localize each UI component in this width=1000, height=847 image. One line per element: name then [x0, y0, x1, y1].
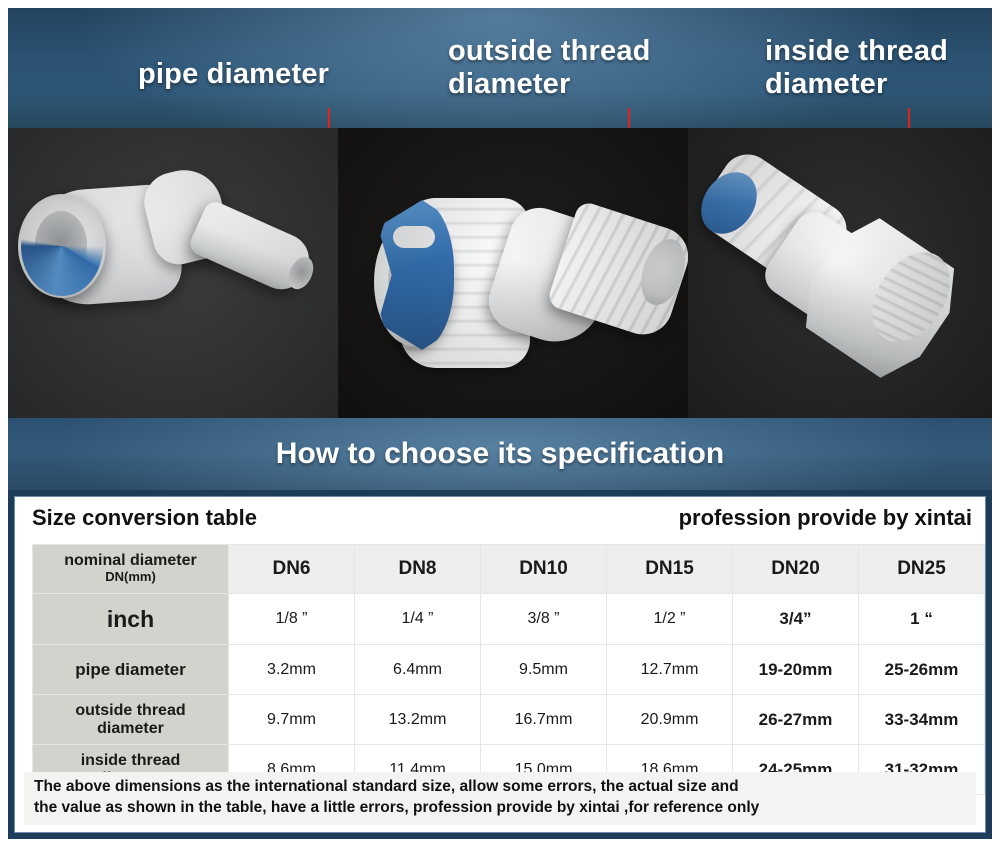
cell-pipe-dn25: 25-26mm — [859, 645, 985, 695]
cell-pipe-dn15: 12.7mm — [607, 645, 733, 695]
row-header-inch: inch — [33, 594, 229, 645]
product-photo-elbow-barb — [8, 128, 338, 418]
row-header-pipe-diameter: pipe diameter — [33, 645, 229, 695]
cell-outside-dn6: 9.7mm — [229, 695, 355, 745]
row-header-pipe-label: pipe diameter — [75, 660, 186, 679]
cell-pipe-dn6: 3.2mm — [229, 645, 355, 695]
top-label-banner: pipe diameter outside thread diameter in… — [8, 8, 992, 128]
column-header-dn10: DN10 — [481, 545, 607, 594]
product-photo-straight-female-nut — [688, 128, 992, 418]
column-header-dn20: DN20 — [733, 545, 859, 594]
fitting-blue-clip-hole — [393, 226, 435, 248]
cell-outside-dn10: 16.7mm — [481, 695, 607, 745]
size-conversion-table: nominal diameter DN(mm) DN6 DN8 DN10 DN1… — [32, 544, 985, 795]
cell-inch-dn20: 3/4” — [733, 594, 859, 645]
cell-pipe-dn20: 19-20mm — [733, 645, 859, 695]
product-spec-infographic: pipe diameter outside thread diameter in… — [0, 0, 1000, 847]
cell-inch-dn25: 1 “ — [859, 594, 985, 645]
cell-inch-dn6: 1/8 ” — [229, 594, 355, 645]
table-row-pipe-diameter: pipe diameter 3.2mm 6.4mm 9.5mm 12.7mm 1… — [33, 645, 985, 695]
cell-outside-dn25: 33-34mm — [859, 695, 985, 745]
row-header-nominal-main: nominal diameter — [34, 553, 227, 570]
product-photo-strip — [8, 128, 992, 418]
column-header-dn25: DN25 — [859, 545, 985, 594]
cell-outside-dn20: 26-27mm — [733, 695, 859, 745]
cell-pipe-dn10: 9.5mm — [481, 645, 607, 695]
banner-label-outside-thread-diameter: outside thread diameter — [448, 35, 718, 102]
cell-inch-dn8: 1/4 ” — [355, 594, 481, 645]
table-title: Size conversion table — [32, 505, 257, 531]
banner-label-pipe-diameter: pipe diameter — [138, 58, 438, 91]
table-footnote: The above dimensions as the internationa… — [24, 772, 976, 825]
column-header-dn8: DN8 — [355, 545, 481, 594]
row-header-inch-label: inch — [107, 606, 154, 632]
row-header-inside-line1: inside thread — [34, 752, 227, 769]
cell-pipe-dn8: 6.4mm — [355, 645, 481, 695]
section-headline-bar: How to choose its specification — [8, 418, 992, 490]
fitting-blue-collet — [21, 196, 103, 296]
row-header-outside-line2: diameter — [34, 720, 227, 737]
row-header-nominal-sub: DN(mm) — [34, 570, 227, 585]
cell-inch-dn15: 1/2 ” — [607, 594, 733, 645]
column-header-dn15: DN15 — [607, 545, 733, 594]
table-caption-row: Size conversion table profession provide… — [24, 496, 976, 544]
row-header-outside-line1: outside thread — [34, 702, 227, 719]
brand-note: profession provide by xintai — [679, 505, 972, 531]
footnote-line-2: the value as shown in the table, have a … — [34, 798, 966, 819]
product-photo-elbow-male-thread — [338, 128, 688, 418]
table-row-outside-thread: outside thread diameter 9.7mm 13.2mm 16.… — [33, 695, 985, 745]
headline-title: How to choose its specification — [276, 437, 724, 471]
row-header-nominal-diameter: nominal diameter DN(mm) — [33, 545, 229, 594]
banner-label-inside-thread-diameter: inside thread diameter — [765, 35, 992, 102]
table-header-row: nominal diameter DN(mm) DN6 DN8 DN10 DN1… — [33, 545, 985, 594]
footnote-line-1: The above dimensions as the internationa… — [34, 777, 966, 798]
cell-outside-dn8: 13.2mm — [355, 695, 481, 745]
row-header-outside-thread: outside thread diameter — [33, 695, 229, 745]
cell-inch-dn10: 3/8 ” — [481, 594, 607, 645]
cell-outside-dn15: 20.9mm — [607, 695, 733, 745]
spec-table-panel: Size conversion table profession provide… — [8, 490, 992, 839]
column-header-dn6: DN6 — [229, 545, 355, 594]
table-row-inch: inch 1/8 ” 1/4 ” 3/8 ” 1/2 ” 3/4” 1 “ — [33, 594, 985, 645]
